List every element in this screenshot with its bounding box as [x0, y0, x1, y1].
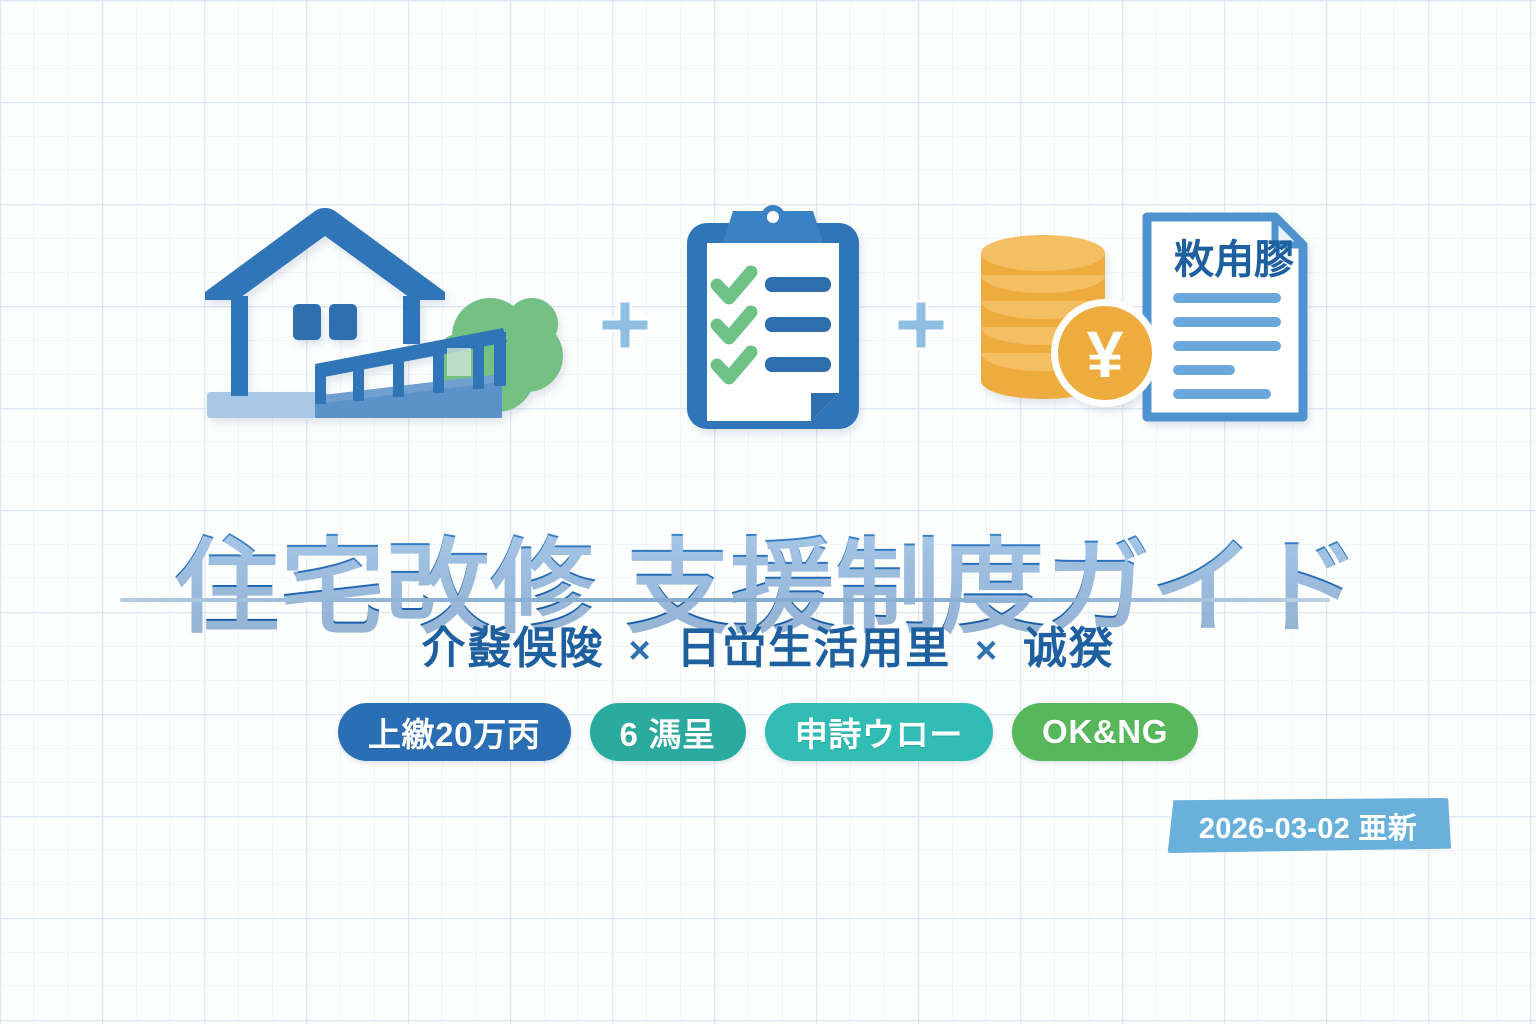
- ramp-post: [473, 335, 484, 389]
- subtitle-part-1: 介鼗俁陖: [421, 624, 604, 673]
- ramp-post: [433, 343, 444, 393]
- pill-row: 上繳20万丙 6 溤呈 申詩ウロー OK&NG: [0, 703, 1536, 761]
- house-base: [207, 392, 327, 418]
- clipboard-icon-slot: [673, 201, 873, 441]
- document-title: 敉甪膠: [1174, 238, 1294, 282]
- poster-canvas: 敉甪膠: [0, 0, 1536, 1024]
- subtitle-part-2: 日峃生活用里: [676, 624, 951, 673]
- clipboard-line: [765, 277, 831, 292]
- house-roof: [205, 208, 445, 300]
- house-window-right: [329, 304, 357, 340]
- ramp-post: [393, 351, 404, 397]
- plus-icon: [593, 293, 657, 357]
- title-divider: [120, 598, 1330, 602]
- ramp-post: [494, 332, 506, 386]
- plus-icon: [889, 293, 953, 357]
- house-icon-slot: [197, 196, 577, 446]
- coins-and-document-icon: 敉甪膠: [969, 201, 1339, 441]
- yen-coin-icon: ¥: [1051, 299, 1159, 407]
- document-line: [1173, 317, 1281, 327]
- plus-separator-1: [577, 285, 673, 357]
- document-line: [1173, 293, 1281, 303]
- document-line: [1173, 341, 1281, 351]
- house-wall-right: [403, 296, 420, 344]
- clipboard-line: [765, 357, 831, 372]
- house-wall-left: [231, 296, 248, 396]
- subtitle-separator-1: ×: [619, 630, 663, 672]
- pill-category-count[interactable]: 6 溤呈: [590, 703, 746, 761]
- money-icon-slot: 敉甪膠: [969, 201, 1339, 441]
- document-icon: 敉甪膠: [1147, 217, 1303, 417]
- subtitle-separator-2: ×: [965, 630, 1009, 672]
- page-subtitle: 介鼗俁陖 × 日峃生活用里 × 诚猤: [0, 612, 1536, 676]
- house-window-left: [293, 304, 321, 340]
- ramp-post: [353, 359, 364, 401]
- yen-symbol: ¥: [1087, 317, 1124, 391]
- pill-ok-ng[interactable]: OK&NG: [1012, 703, 1198, 761]
- pill-application-flow[interactable]: 申詩ウロー: [765, 703, 993, 761]
- clipboard-line: [765, 317, 831, 332]
- house-with-ramp-icon: [197, 196, 577, 446]
- subtitle-part-3: 诚猤: [1023, 624, 1115, 673]
- icon-row: 敉甪膠: [0, 186, 1536, 456]
- clipboard-checklist-icon: [673, 201, 873, 441]
- pill-upper-limit[interactable]: 上繳20万丙: [338, 703, 571, 761]
- ramp-post: [315, 366, 326, 404]
- document-line: [1173, 389, 1271, 399]
- document-line: [1173, 365, 1235, 375]
- last-updated-badge: 2026-03-02 亜新: [1165, 798, 1451, 853]
- plus-separator-2: [873, 285, 969, 357]
